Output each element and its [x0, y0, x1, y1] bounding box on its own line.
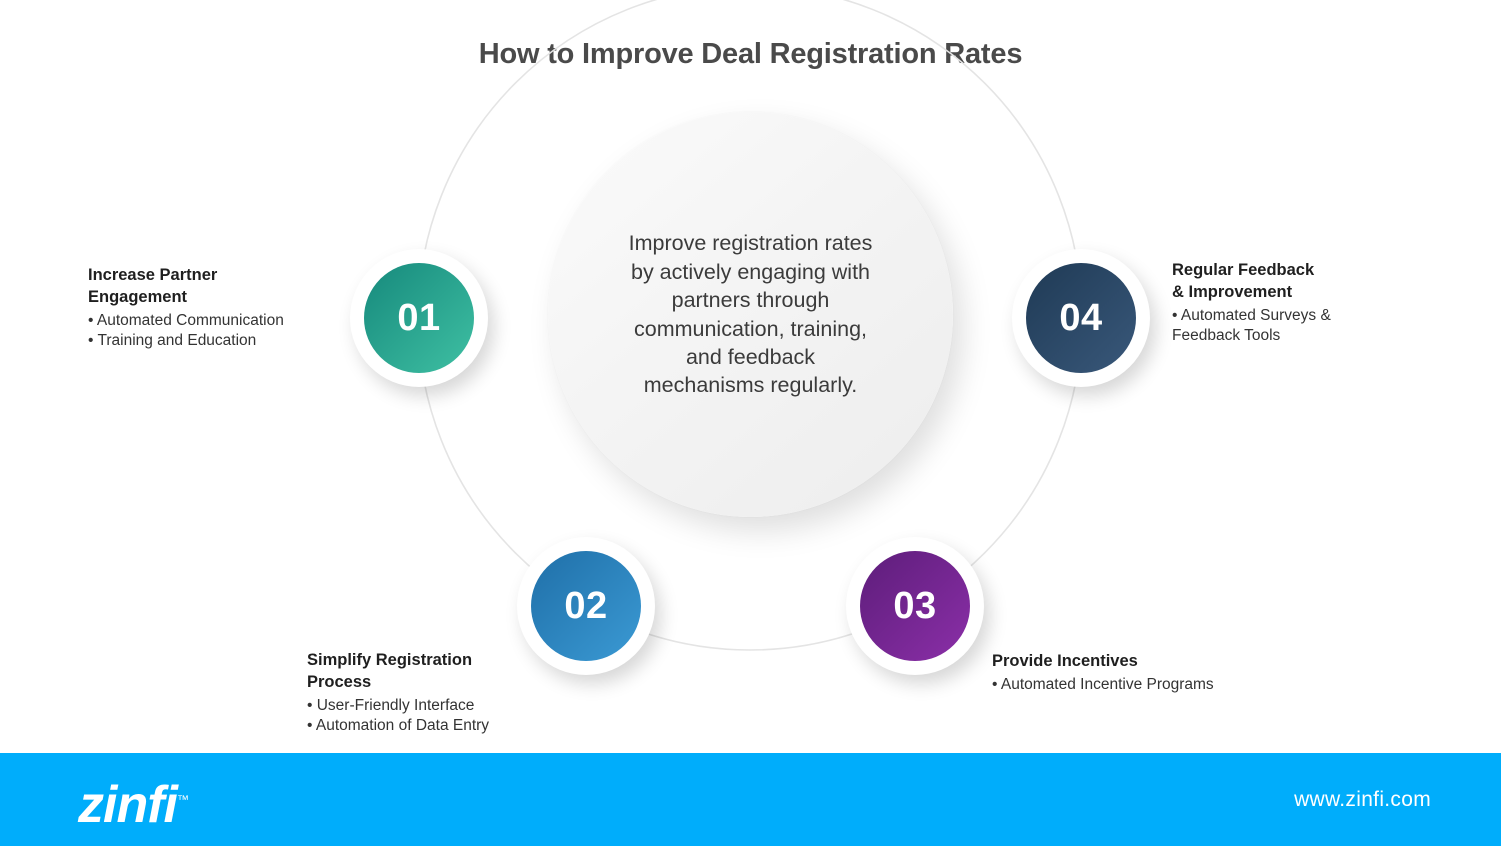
center-circle: Improve registration rates by actively e…	[548, 112, 953, 517]
node-circle-01[interactable]: 01	[350, 249, 488, 387]
label-bullet-04-1: • Automated Surveys & Feedback Tools	[1172, 306, 1472, 347]
node-number-02: 02	[564, 585, 607, 628]
label-bullet-03-1: • Automated Incentive Programs	[992, 675, 1312, 696]
page-title: How to Improve Deal Registration Rates	[0, 38, 1501, 71]
node-number-04-badge: 04	[1026, 263, 1136, 373]
label-block-03: Provide Incentives • Automated Incentive…	[992, 651, 1312, 695]
infographic-canvas: How to Improve Deal Registration Rates I…	[0, 0, 1501, 846]
label-bullet-01-2: • Training and Education	[88, 331, 358, 352]
label-bullets-04: • Automated Surveys & Feedback Tools	[1172, 306, 1472, 347]
node-circle-04[interactable]: 04	[1012, 249, 1150, 387]
label-block-01: Increase Partner Engagement • Automated …	[88, 265, 358, 352]
center-circle-text: Improve registration rates by actively e…	[601, 229, 901, 399]
label-bullet-01-1: • Automated Communication	[88, 311, 358, 332]
zinfi-logo[interactable]: zinfi™	[78, 779, 189, 831]
label-bullet-02-1: • User-Friendly Interface	[307, 696, 607, 717]
label-block-02: Simplify Registration Process • User-Fri…	[307, 650, 607, 737]
node-number-03: 03	[893, 585, 936, 628]
node-number-01: 01	[397, 297, 440, 340]
node-number-04: 04	[1059, 297, 1102, 340]
node-number-01-badge: 01	[364, 263, 474, 373]
node-circle-03[interactable]: 03	[846, 537, 984, 675]
label-heading-02: Simplify Registration Process	[307, 650, 607, 694]
label-heading-01: Increase Partner Engagement	[88, 265, 358, 309]
trademark-icon: ™	[177, 793, 189, 807]
label-bullet-02-2: • Automation of Data Entry	[307, 716, 607, 737]
zinfi-logo-text: zinfi	[78, 776, 177, 834]
label-bullets-03: • Automated Incentive Programs	[992, 675, 1312, 696]
label-block-04: Regular Feedback & Improvement • Automat…	[1172, 260, 1472, 347]
label-bullets-02: • User-Friendly Interface • Automation o…	[307, 696, 607, 737]
node-number-02-badge: 02	[531, 551, 641, 661]
footer-website-url[interactable]: www.zinfi.com	[1294, 788, 1431, 812]
label-heading-03: Provide Incentives	[992, 651, 1312, 673]
node-number-03-badge: 03	[860, 551, 970, 661]
label-heading-04: Regular Feedback & Improvement	[1172, 260, 1472, 304]
label-bullets-01: • Automated Communication • Training and…	[88, 311, 358, 352]
footer-bar: zinfi™ www.zinfi.com	[0, 753, 1501, 846]
